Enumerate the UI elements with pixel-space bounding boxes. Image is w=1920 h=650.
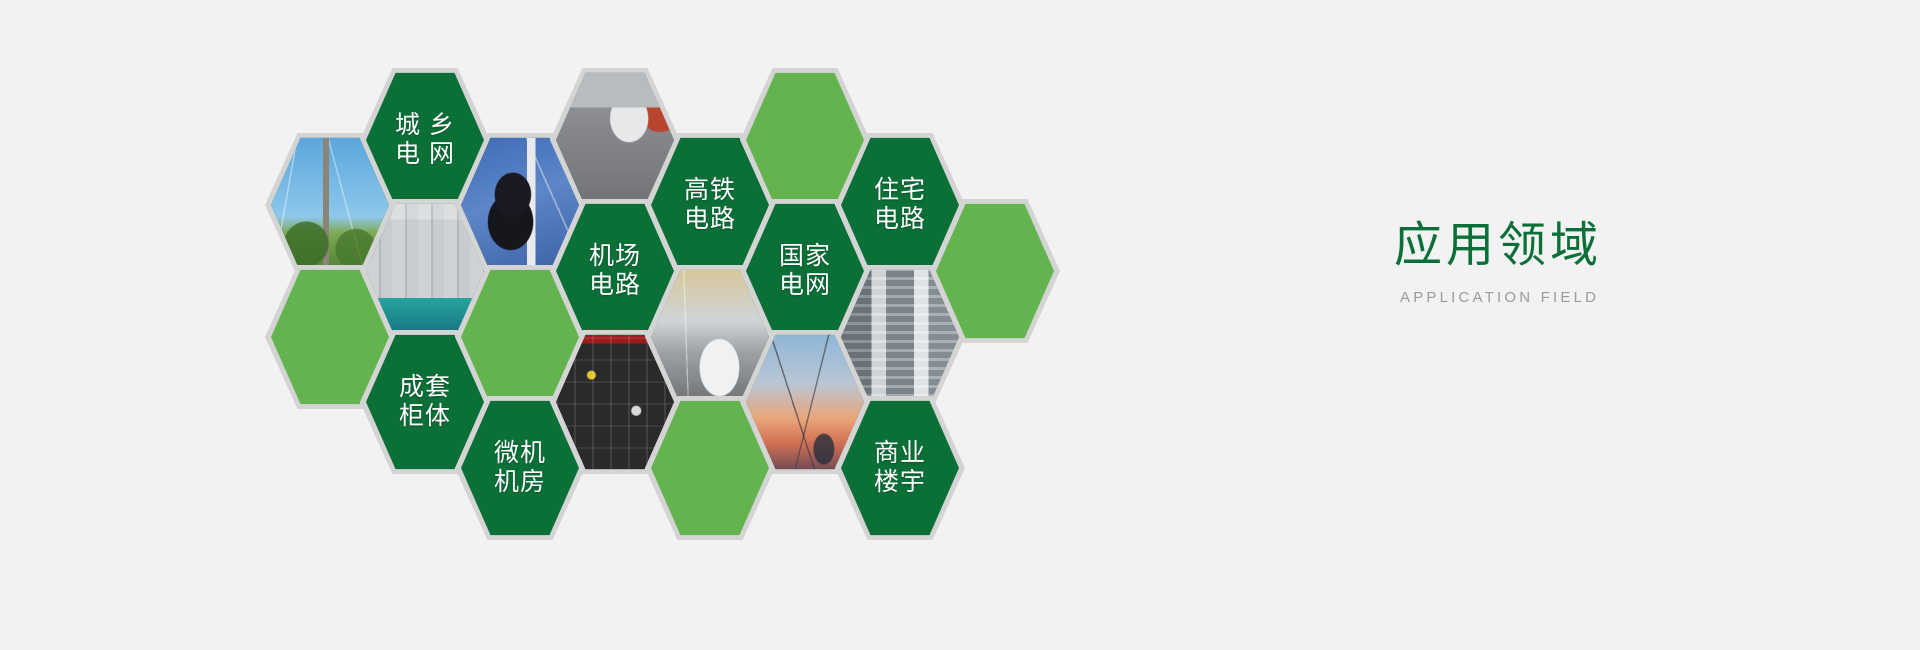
cell-residential-circuit-label: 住宅 电路 (874, 176, 926, 235)
application-field-banner: 城 乡 电 网机场 电路高铁 电路国家 电网住宅 电路成套 柜体微机 机房商业 … (0, 0, 1920, 650)
cell-airport-circuit-label: 机场 电路 (589, 242, 641, 301)
page-subtitle: APPLICATION FIELD (1400, 289, 1814, 306)
cell-urban-rural-grid-label: 城 乡 电 网 (395, 111, 455, 170)
cell-commercial-building-inner: 商业 楼宇 (841, 400, 959, 537)
cell-switchgear-assembly-label: 成套 柜体 (399, 373, 451, 432)
banner-text-block: 应用领域 APPLICATION FIELD (1394, 220, 1814, 306)
cell-state-grid-label: 国家 电网 (779, 242, 831, 301)
page-title: 应用领域 (1394, 220, 1814, 273)
cell-high-speed-rail-label: 高铁 电路 (684, 176, 736, 235)
cell-microcomputer-room-label: 微机 机房 (494, 439, 546, 498)
hexagon-honeycomb: 城 乡 电 网机场 电路高铁 电路国家 电网住宅 电路成套 柜体微机 机房商业 … (0, 0, 1320, 650)
cell-blank-right-inner (936, 203, 1054, 340)
cell-commercial-building-label: 商业 楼宇 (874, 439, 926, 498)
